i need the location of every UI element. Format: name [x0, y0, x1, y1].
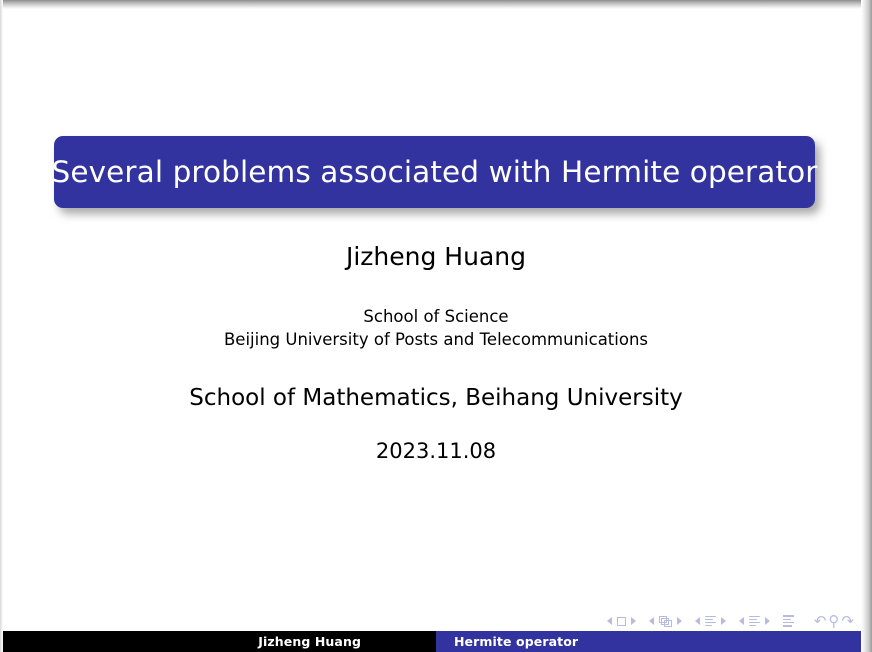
title-block: Several problems associated with Hermite…: [54, 136, 815, 208]
triangle-left-icon[interactable]: [739, 617, 744, 625]
triangle-right-icon[interactable]: [765, 617, 770, 625]
page-right-edge-shadow: [861, 0, 872, 652]
lines-icon[interactable]: [705, 616, 716, 627]
slide-navigation-group[interactable]: [607, 617, 636, 626]
title-box: Several problems associated with Hermite…: [54, 136, 815, 208]
title-page-body: Jizheng Huang School of Science Beijing …: [0, 243, 872, 463]
page-top-edge-shadow: [0, 0, 872, 9]
beamer-navigation-symbols[interactable]: ↶ ⚲ ↷: [607, 612, 854, 630]
presentation-slide: Several problems associated with Hermite…: [0, 0, 872, 652]
spacer: [0, 412, 872, 440]
triangle-left-icon[interactable]: [695, 617, 700, 625]
lines-icon[interactable]: [749, 616, 760, 627]
affiliation-line-2: Beijing University of Posts and Telecomm…: [0, 328, 872, 352]
affiliation-line-1: School of Science: [0, 305, 872, 329]
search-icon[interactable]: ⚲: [828, 614, 839, 629]
footer-author-section: Jizheng Huang: [0, 631, 436, 652]
frame-navigation-group[interactable]: [649, 616, 682, 627]
history-navigation-group[interactable]: ↶ ⚲ ↷: [814, 614, 854, 629]
footer-author-label: Jizheng Huang: [258, 634, 361, 649]
page-left-edge-shadow: [0, 0, 3, 652]
forward-icon[interactable]: ↷: [841, 614, 854, 629]
triangle-left-icon[interactable]: [607, 617, 612, 625]
venue-name: School of Mathematics, Beihang Universit…: [0, 386, 872, 411]
triangle-left-icon[interactable]: [649, 617, 654, 625]
slide-footer: Jizheng Huang Hermite operator: [0, 631, 872, 652]
document-icon[interactable]: [783, 615, 794, 626]
author-name: Jizheng Huang: [0, 243, 872, 271]
spacer: [0, 352, 872, 386]
slide-title: Several problems associated with Hermite…: [52, 157, 818, 188]
square-icon[interactable]: [617, 617, 626, 626]
triangle-right-icon[interactable]: [721, 617, 726, 625]
section-navigation-group[interactable]: [739, 616, 770, 627]
footer-title-section: Hermite operator: [436, 631, 872, 652]
subsection-navigation-group[interactable]: [695, 616, 726, 627]
footer-title-label: Hermite operator: [454, 634, 578, 649]
back-icon[interactable]: ↶: [814, 614, 827, 629]
triangle-right-icon[interactable]: [631, 617, 636, 625]
triangle-right-icon[interactable]: [677, 617, 682, 625]
presentation-date: 2023.11.08: [0, 440, 872, 463]
frames-icon[interactable]: [659, 616, 672, 627]
spacer: [0, 271, 872, 305]
